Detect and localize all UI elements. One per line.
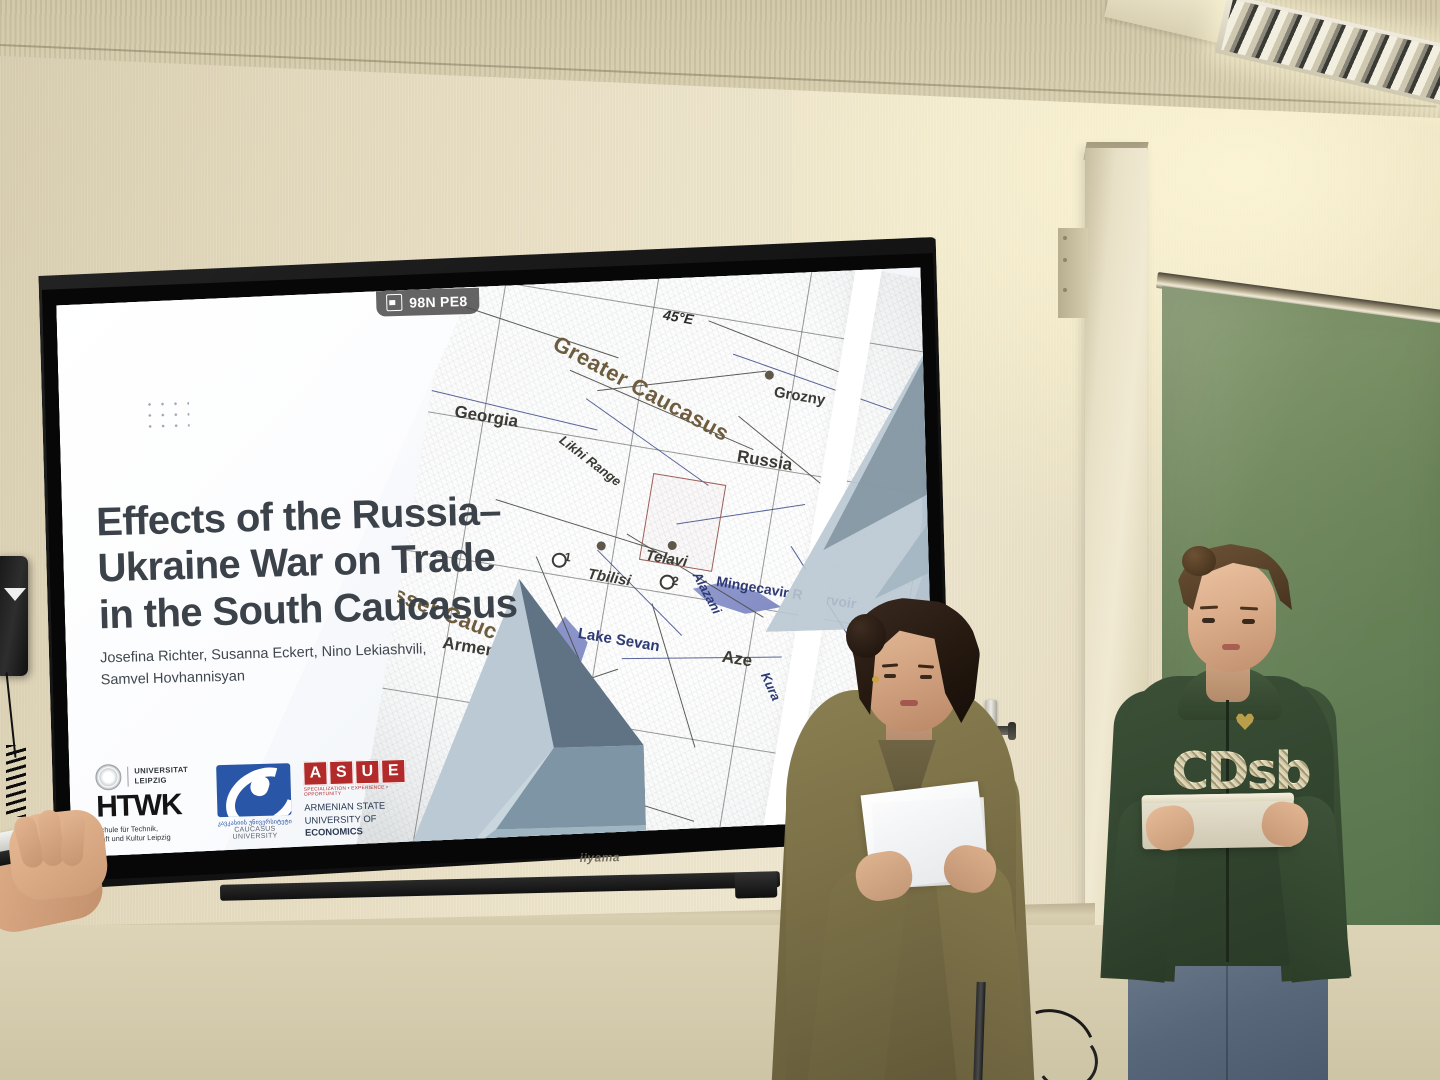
asue-letter-e: E (381, 759, 406, 784)
coat-hook-tip (1008, 722, 1016, 740)
decorative-triangle-right (756, 296, 936, 631)
presenter-left-lips (900, 700, 918, 706)
phone-coiled-cord (6, 745, 26, 817)
logo-caucasus-university: კავკასიის უნივერსიტეტი CAUCASUS UNIVERSI… (213, 763, 295, 841)
logo-row: UNIVERSITAT LEIPZIG HTWK schule für Tech… (95, 743, 427, 844)
scene: 43°E 45°E Greater Caucasus Lesser Caucas… (0, 0, 1440, 1080)
presenter-right-hair-bun (1182, 546, 1216, 576)
column-mount-plate (1058, 228, 1088, 318)
logo-htwk-wordmark: HTWK (96, 789, 205, 822)
asue-letter-s: S (329, 761, 354, 786)
status-badge[interactable]: 98N PE8 (376, 288, 480, 317)
caucasus-university-mark-icon (216, 763, 291, 817)
asue-letter-u: U (355, 760, 380, 785)
logo-asue-line1: ARMENIAN STATE (304, 800, 385, 813)
logo-asue: A S U E SPECIALIZATION • EXPERIENCE • OP… (303, 759, 417, 839)
page-title: Effects of the Russia–Ukraine War on Tra… (96, 487, 550, 639)
author-line: Samvel Hovhannisyan (100, 668, 245, 688)
logo-htwk-leipzig: UNIVERSITAT LEIPZIG HTWK schule für Tech… (95, 761, 205, 844)
display-brand-logo: iiyama (555, 850, 645, 866)
title-line: Ukraine War on Trade (97, 536, 496, 591)
presenter-right-lips (1222, 644, 1240, 650)
logo-asue-tagline: SPECIALIZATION • EXPERIENCE • OPPORTUNIT… (304, 785, 416, 798)
presenter-left-hair-bun (846, 614, 886, 658)
logo-htwk-line2: LEIPZIG (134, 775, 167, 785)
logo-cu-english: CAUCASUS UNIVERSITY (215, 825, 295, 841)
logo-asue-line2: UNIVERSITY OF (305, 812, 377, 825)
dot-grid-decoration (143, 398, 190, 429)
logo-htwk-sub2: haft und Kultur Leipzig (97, 833, 171, 844)
save-disk-icon (386, 294, 402, 311)
phone-indicator-icon (4, 588, 26, 601)
presenter-left-earring (872, 676, 879, 683)
university-seal-icon (95, 764, 122, 791)
logo-asue-line3: ECONOMICS (305, 825, 363, 838)
wall-phone[interactable] (0, 556, 28, 676)
logo-htwk-line1: UNIVERSITAT (134, 765, 188, 776)
status-badge-label: 98N PE8 (409, 293, 468, 311)
asue-letter-a: A (303, 761, 328, 786)
display-mount-bracket (735, 871, 778, 898)
